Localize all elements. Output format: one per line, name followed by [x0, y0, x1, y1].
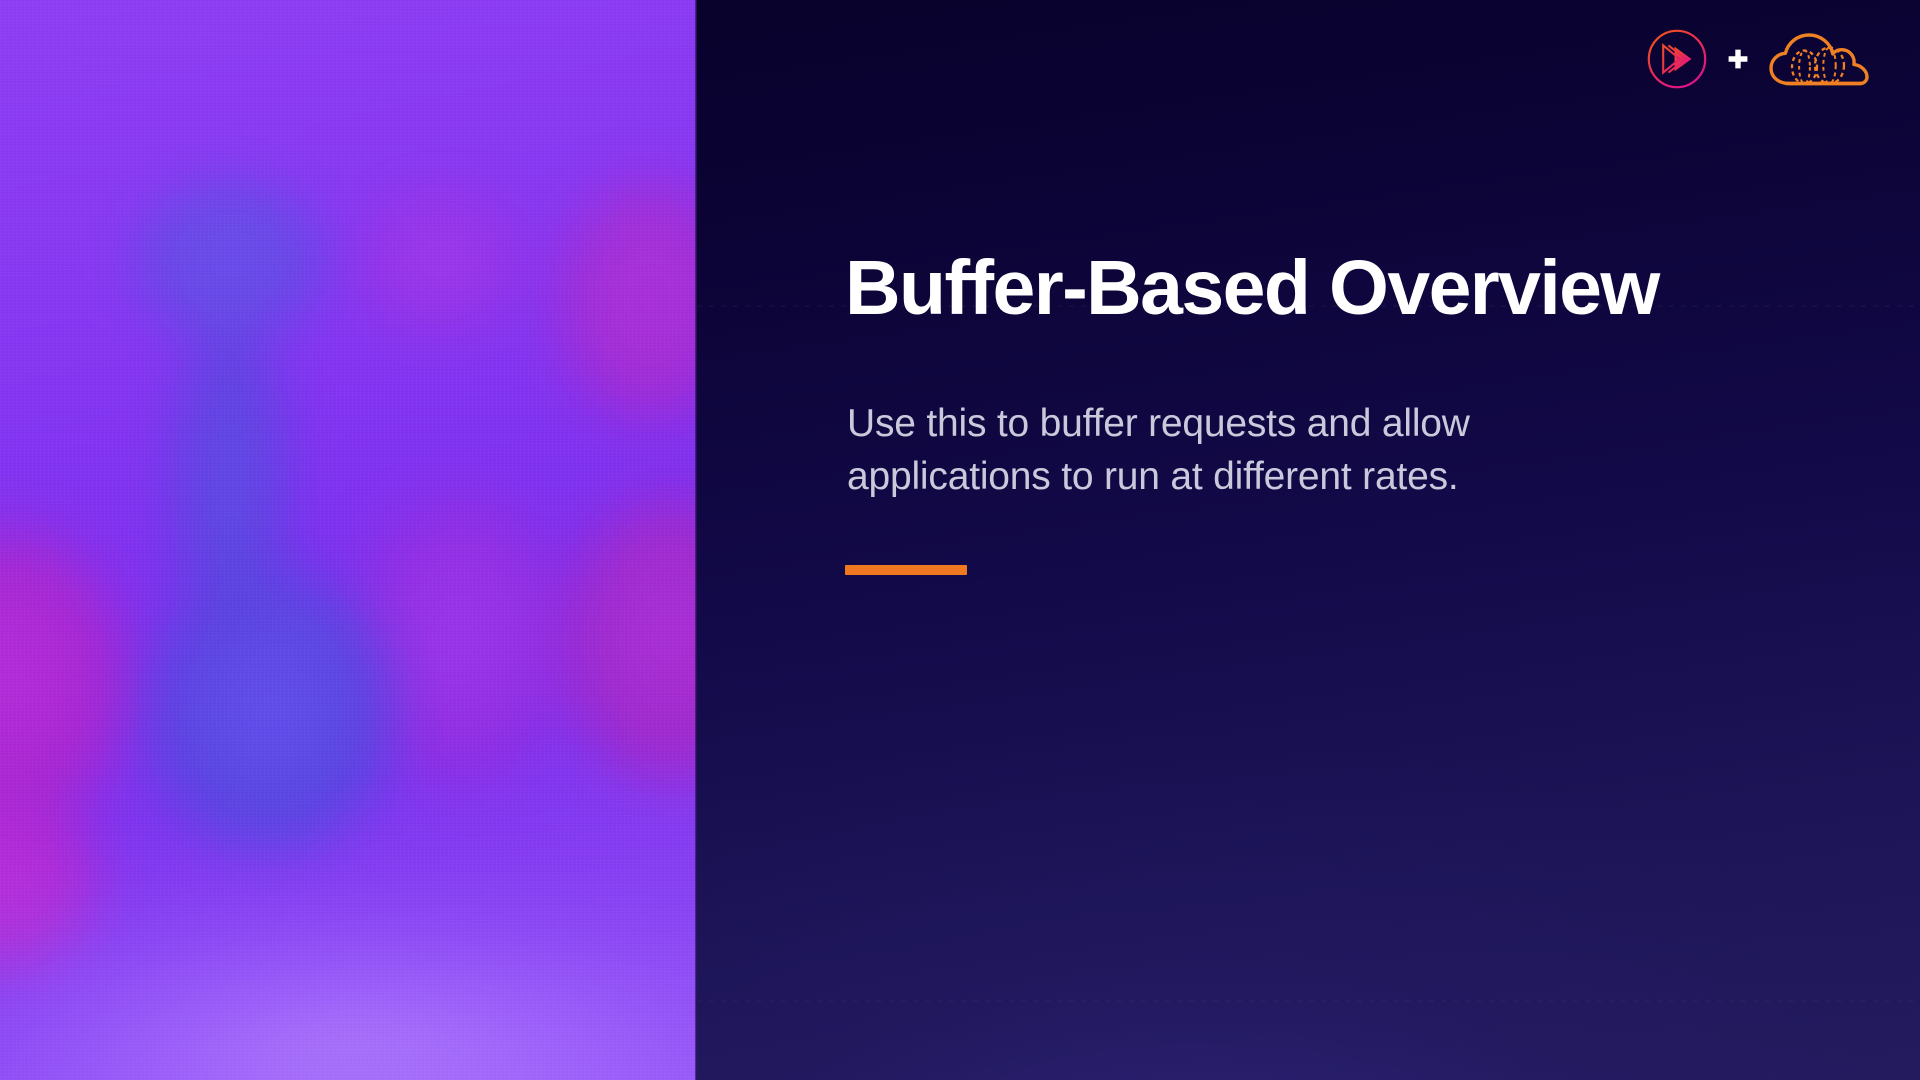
play-triangle-circle-logo: [1646, 28, 1708, 90]
page-title: Buffer-Based Overview: [845, 248, 1825, 329]
plus-separator-icon: [1726, 47, 1750, 71]
logo-lockup: [1646, 28, 1872, 90]
panel-right-edge: [695, 0, 697, 1080]
background-seam-line: [697, 1000, 1920, 1002]
photo-grain-texture: [0, 0, 697, 1080]
cloud-logo: [1768, 28, 1872, 90]
left-image-panel: [0, 0, 697, 1080]
slide-subtitle: Use this to buffer requests and allow ap…: [847, 397, 1547, 503]
slide-root: Buffer-Based Overview Use this to buffer…: [0, 0, 1920, 1080]
accent-underline-bar: [845, 565, 967, 575]
slide-content: Buffer-Based Overview Use this to buffer…: [845, 248, 1825, 575]
